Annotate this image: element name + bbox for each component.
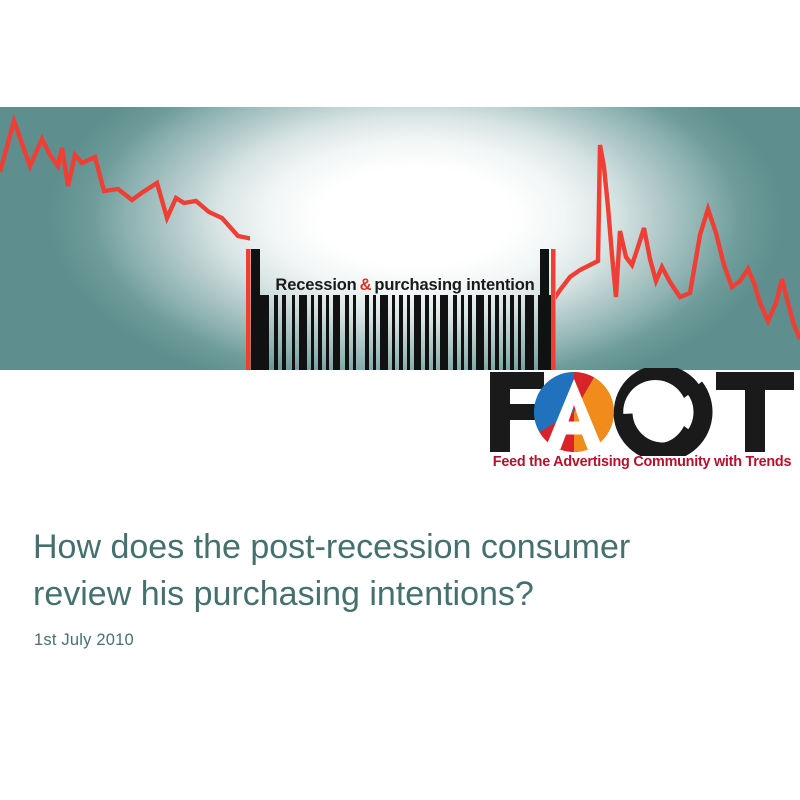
recession-banner-image: Recession & purchasing intention xyxy=(0,107,800,370)
fact-logo: Feed the Advertising Community with Tren… xyxy=(488,368,796,480)
logo-letter-a-multicolor xyxy=(534,372,614,452)
barcode-guard-lines xyxy=(246,249,558,370)
barcode-right-guard-bar xyxy=(540,249,549,370)
barcode-left-guard-bar xyxy=(251,249,260,370)
fact-wordmark xyxy=(488,368,796,456)
trend-line-right-segment xyxy=(552,145,800,339)
logo-tagline: Feed the Advertising Community with Tren… xyxy=(488,454,796,470)
logo-letter-c-ring xyxy=(607,368,719,456)
page-title: How does the post-recession consumer rev… xyxy=(33,524,753,618)
barcode-left-red-line xyxy=(246,249,251,370)
page-title-line-1: How does the post-recession consumer xyxy=(33,524,753,571)
barcode-right-red-line xyxy=(551,249,556,370)
barcode-graphic: Recession & purchasing intention xyxy=(246,272,558,370)
logo-letter-t xyxy=(716,372,794,452)
trend-line-left-segment xyxy=(0,121,580,269)
page-title-line-2: review his purchasing intentions? xyxy=(33,571,753,618)
presentation-date: 1st July 2010 xyxy=(34,631,134,650)
